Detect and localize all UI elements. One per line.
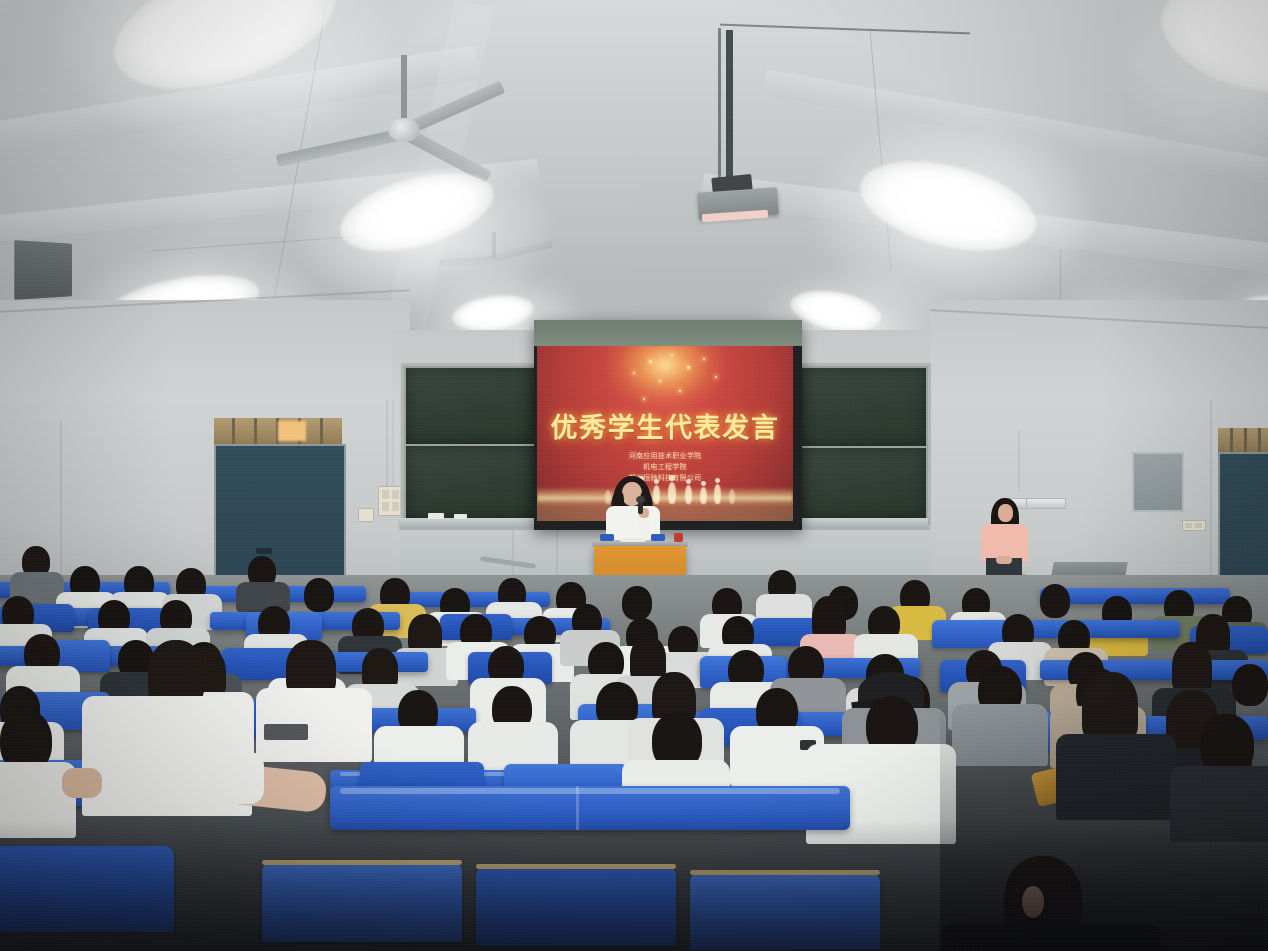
lecture-hall-photo: 优秀学生代表发言 河南应用技术职业学院 机电工程学院 郑州恒驰科技有限公司 (0, 0, 1268, 951)
door-transom-window (214, 418, 342, 444)
slide-light-burst (606, 346, 724, 409)
audience-head (304, 578, 334, 612)
slide-silhouette (729, 489, 735, 504)
slide-sparkle (703, 358, 705, 360)
chalkboard-eraser[interactable] (454, 514, 467, 519)
slide-silhouette (686, 479, 691, 484)
audience-head (622, 586, 652, 620)
podium-receiver (651, 534, 665, 541)
projection-screen: 优秀学生代表发言 河南应用技术职业学院 机电工程学院 郑州恒驰科技有限公司 (534, 320, 802, 530)
projector-pole (726, 30, 733, 182)
slide-silhouette (714, 484, 721, 504)
door-transom-window (1218, 428, 1268, 452)
conduit (386, 400, 388, 486)
audience-head (1040, 584, 1070, 618)
slide-sparkle (715, 376, 717, 378)
shirt-graphic (264, 724, 308, 740)
slide-sparkle (633, 372, 635, 374)
conduit (1018, 430, 1020, 492)
slide-silhouette (653, 485, 660, 504)
wall-outlet[interactable] (358, 508, 374, 522)
projector-cable (718, 28, 721, 178)
slide-subtitle-line: 机电工程学院 (537, 463, 793, 473)
slide-sparkle (643, 398, 645, 400)
chalkboard-eraser[interactable] (428, 513, 444, 519)
door-handle[interactable] (256, 548, 272, 554)
slide-sparkle (671, 354, 673, 356)
podium-papers (620, 538, 646, 542)
slide-silhouette (605, 490, 611, 504)
slide-subtitle-line: 河南应用技术职业学院 (537, 452, 793, 462)
audience-sleeve (190, 752, 264, 804)
microphone-head (636, 496, 645, 503)
foreground-shadow (940, 700, 1268, 951)
presentation-slide: 优秀学生代表发言 河南应用技术职业学院 机电工程学院 郑州恒驰科技有限公司 (537, 346, 793, 521)
slide-silhouette (715, 478, 720, 483)
slide-sparkle (659, 380, 661, 382)
wall-light-fixture-seam (1026, 498, 1027, 507)
slide-silhouette (700, 487, 707, 504)
slide-sparkle (679, 390, 681, 392)
podium-cup[interactable] (674, 533, 683, 542)
light-switch[interactable] (1182, 520, 1206, 531)
wall-window (1132, 452, 1184, 512)
slide-floor-glow (537, 485, 793, 521)
wall-speaker (14, 240, 72, 300)
slide-silhouette (669, 475, 675, 481)
slide-subtitle-line: 郑州恒驰科技有限公司 (537, 474, 793, 484)
slide-sparkle (687, 366, 690, 369)
audience-hand (62, 768, 102, 798)
transom-light (278, 421, 306, 441)
conduit (392, 400, 394, 486)
desk-shelf-highlight (340, 788, 840, 794)
slide-title: 优秀学生代表发言 (537, 406, 793, 445)
staff-face (998, 504, 1013, 522)
slide-silhouette (701, 481, 706, 486)
slide-silhouette (668, 482, 676, 504)
ceiling-fan-hub (388, 118, 420, 142)
screen-top-band (534, 320, 802, 346)
podium-receiver (600, 534, 614, 541)
staff-hands (996, 556, 1012, 564)
ceiling-fan-rod (401, 55, 407, 127)
slide-silhouette (654, 479, 659, 484)
slide-sparkle (649, 360, 652, 363)
slide-silhouette (685, 485, 692, 504)
